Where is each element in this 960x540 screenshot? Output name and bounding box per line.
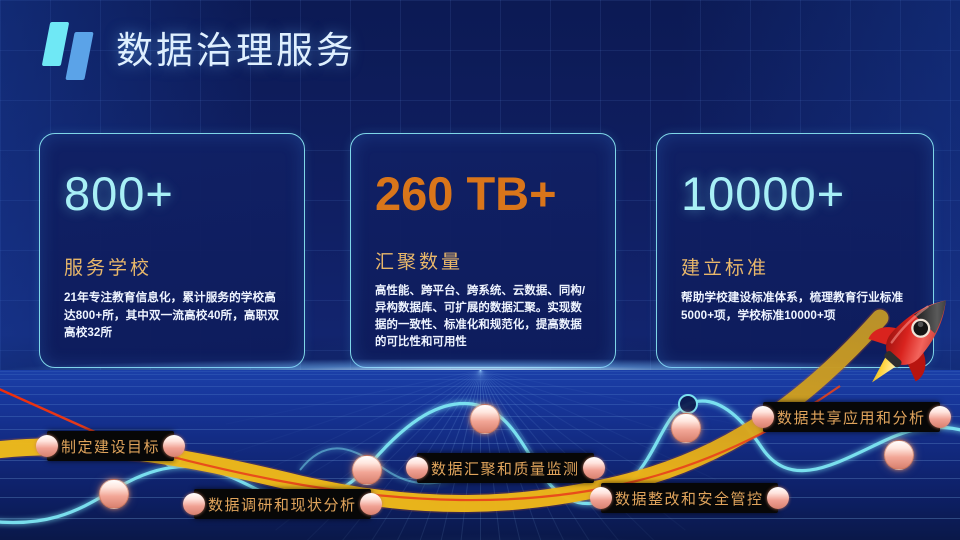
timeline-step-label: 数据调研和现状分析: [208, 494, 357, 515]
slide-header: 数据治理服务: [40, 18, 356, 76]
timeline-orb: [99, 479, 129, 509]
stat-subtitle: 服务学校: [64, 253, 280, 280]
timeline-step-4[interactable]: 数据整改和安全管控: [601, 483, 778, 513]
stat-description: 21年专注教育信息化，累计服务的学校高达800+所，其中双一流高校40所，高职双…: [64, 289, 280, 342]
timeline-step-3[interactable]: 数据汇聚和质量监测: [417, 453, 594, 483]
timeline-step-2[interactable]: 数据调研和现状分析: [194, 489, 371, 519]
stat-subtitle: 建立标准: [681, 253, 909, 280]
stat-number: 800+: [64, 170, 280, 217]
rocket-icon: [856, 282, 960, 394]
stat-subtitle: 汇聚数量: [375, 247, 591, 274]
timeline-step-label: 数据共享应用和分析: [777, 407, 926, 428]
timeline-step-label: 制定建设目标: [61, 436, 160, 457]
timeline-step-1[interactable]: 制定建设目标: [47, 431, 174, 461]
floor-gridline-radial: [234, 370, 481, 453]
stat-card-service-schools[interactable]: 800+ 服务学校 21年专注教育信息化，累计服务的学校高达800+所，其中双一…: [39, 133, 305, 368]
stat-number: 10000+: [681, 170, 909, 217]
timeline-step-label: 数据汇聚和质量监测: [431, 458, 580, 479]
timeline-step-5[interactable]: 数据共享应用和分析: [763, 402, 940, 432]
timeline-orb: [470, 404, 500, 434]
timeline-orb: [884, 440, 914, 470]
stat-description: 高性能、跨平台、跨系统、云数据、同构/异构数据库、可扩展的数据汇聚。实现数据的一…: [375, 283, 591, 351]
timeline-orb: [671, 413, 701, 443]
page-title: 数据治理服务: [116, 20, 356, 74]
slide-canvas: 数据治理服务 800+ 服务学校 21年专注教育信息化，累计服务的学校高达800…: [0, 0, 960, 540]
timeline-orb: [352, 455, 382, 485]
slanted-bars-logo-icon: [40, 18, 102, 76]
stat-number: 260 TB+: [375, 170, 591, 217]
stat-card-data-volume[interactable]: 260 TB+ 汇聚数量 高性能、跨平台、跨系统、云数据、同构/异构数据库、可扩…: [350, 133, 616, 368]
timeline-step-label: 数据整改和安全管控: [615, 488, 764, 509]
